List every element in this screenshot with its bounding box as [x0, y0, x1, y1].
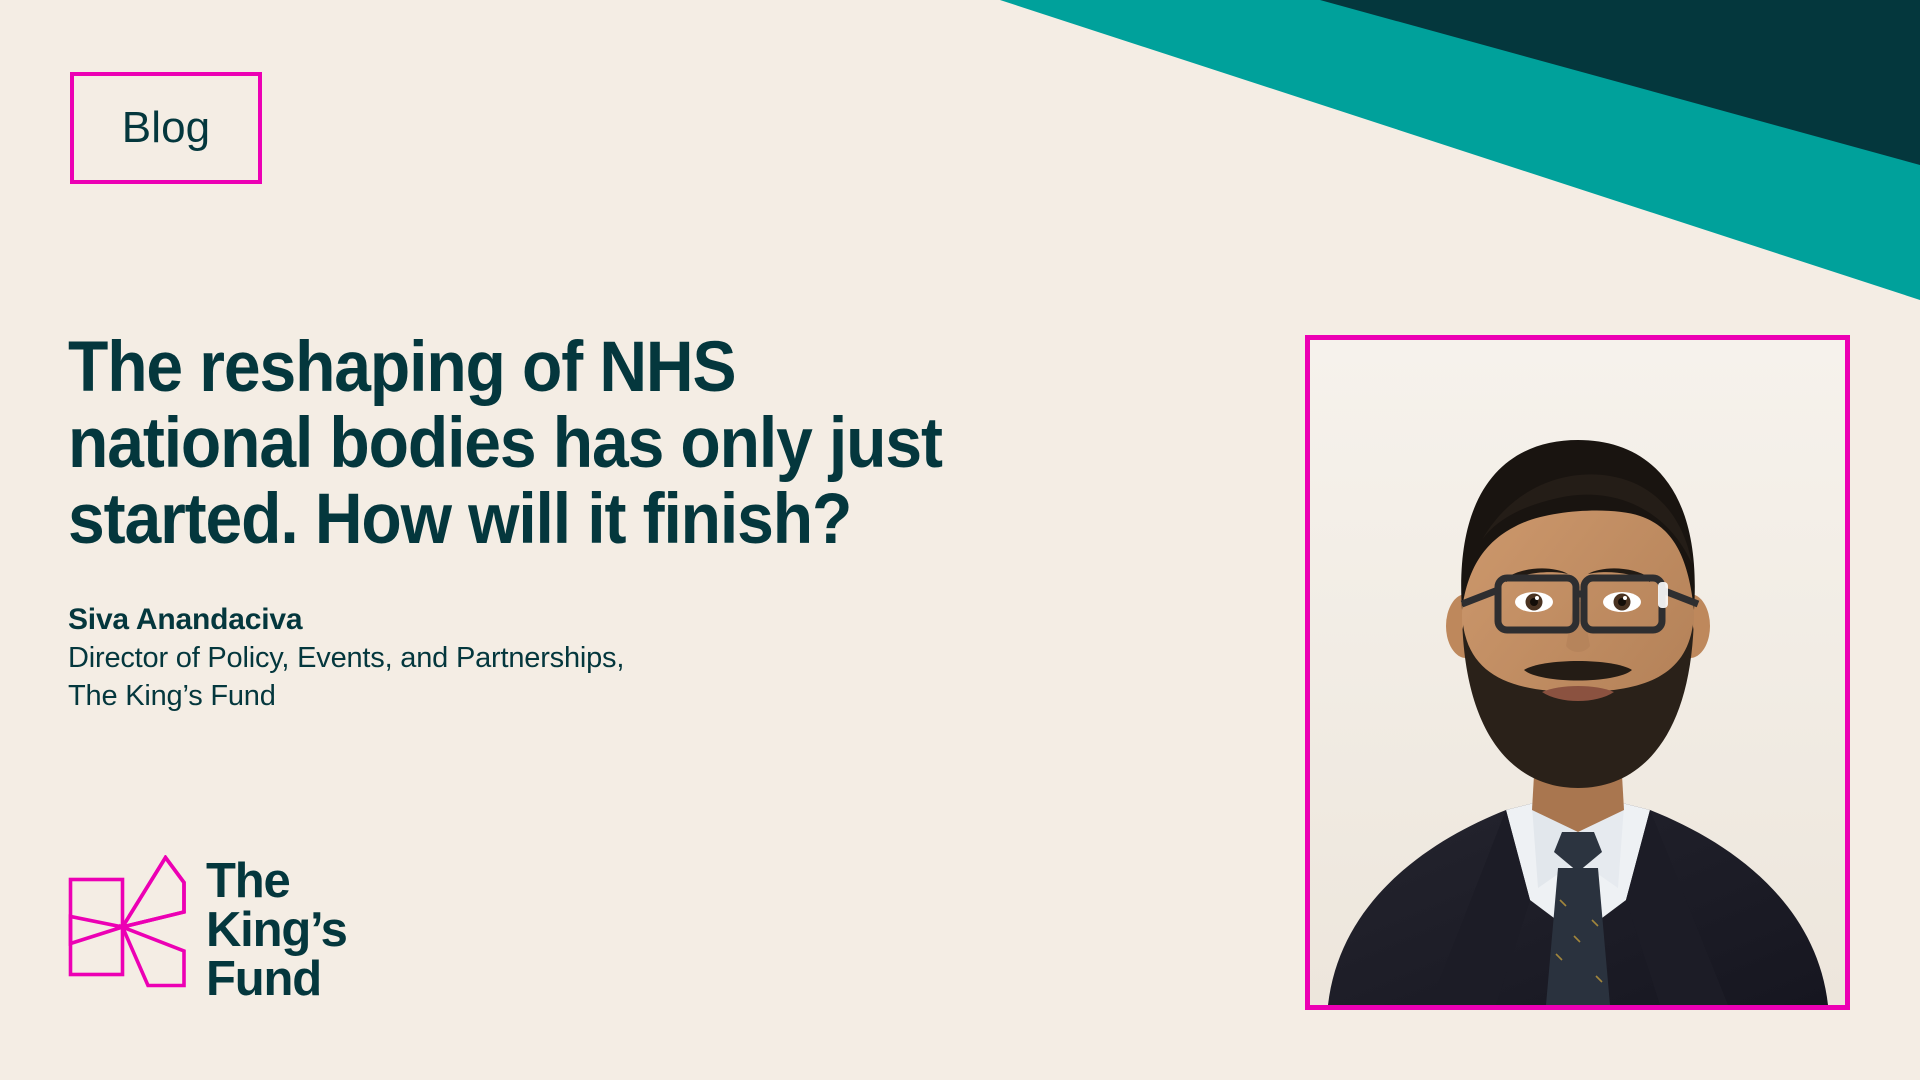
page-title-line-2: national bodies has only just	[68, 406, 998, 482]
author-portrait-frame	[1305, 335, 1850, 1010]
kings-fund-wordmark: The King’s Fund	[206, 855, 347, 1004]
kings-fund-logo[interactable]: The King’s Fund	[68, 855, 347, 1004]
wordmark-line-1: The	[206, 857, 347, 906]
author-role-line-2: The King’s Fund	[68, 677, 624, 715]
page-title-line-1: The reshaping of NHS	[68, 330, 998, 406]
blog-badge[interactable]: Blog	[70, 72, 262, 184]
dark-teal-band-shape	[1320, 0, 1920, 165]
page-title: The reshaping of NHS national bodies has…	[68, 330, 998, 558]
corner-diagonal-bands	[1000, 0, 1920, 300]
page-title-line-3: started. How will it finish?	[68, 482, 998, 558]
wordmark-line-2: King’s	[206, 906, 347, 955]
author-name: Siva Anandaciva	[68, 600, 624, 639]
blog-badge-label: Blog	[122, 106, 210, 150]
teal-band-shape	[1000, 0, 1920, 300]
blog-promo-card: Blog The reshaping of NHS national bodie…	[0, 0, 1920, 1080]
wordmark-line-3: Fund	[206, 955, 347, 1004]
byline: Siva Anandaciva Director of Policy, Even…	[68, 600, 624, 716]
author-role-line-1: Director of Policy, Events, and Partners…	[68, 639, 624, 677]
avatar	[1310, 340, 1845, 1005]
kings-fund-k-monogram-icon	[68, 855, 186, 988]
